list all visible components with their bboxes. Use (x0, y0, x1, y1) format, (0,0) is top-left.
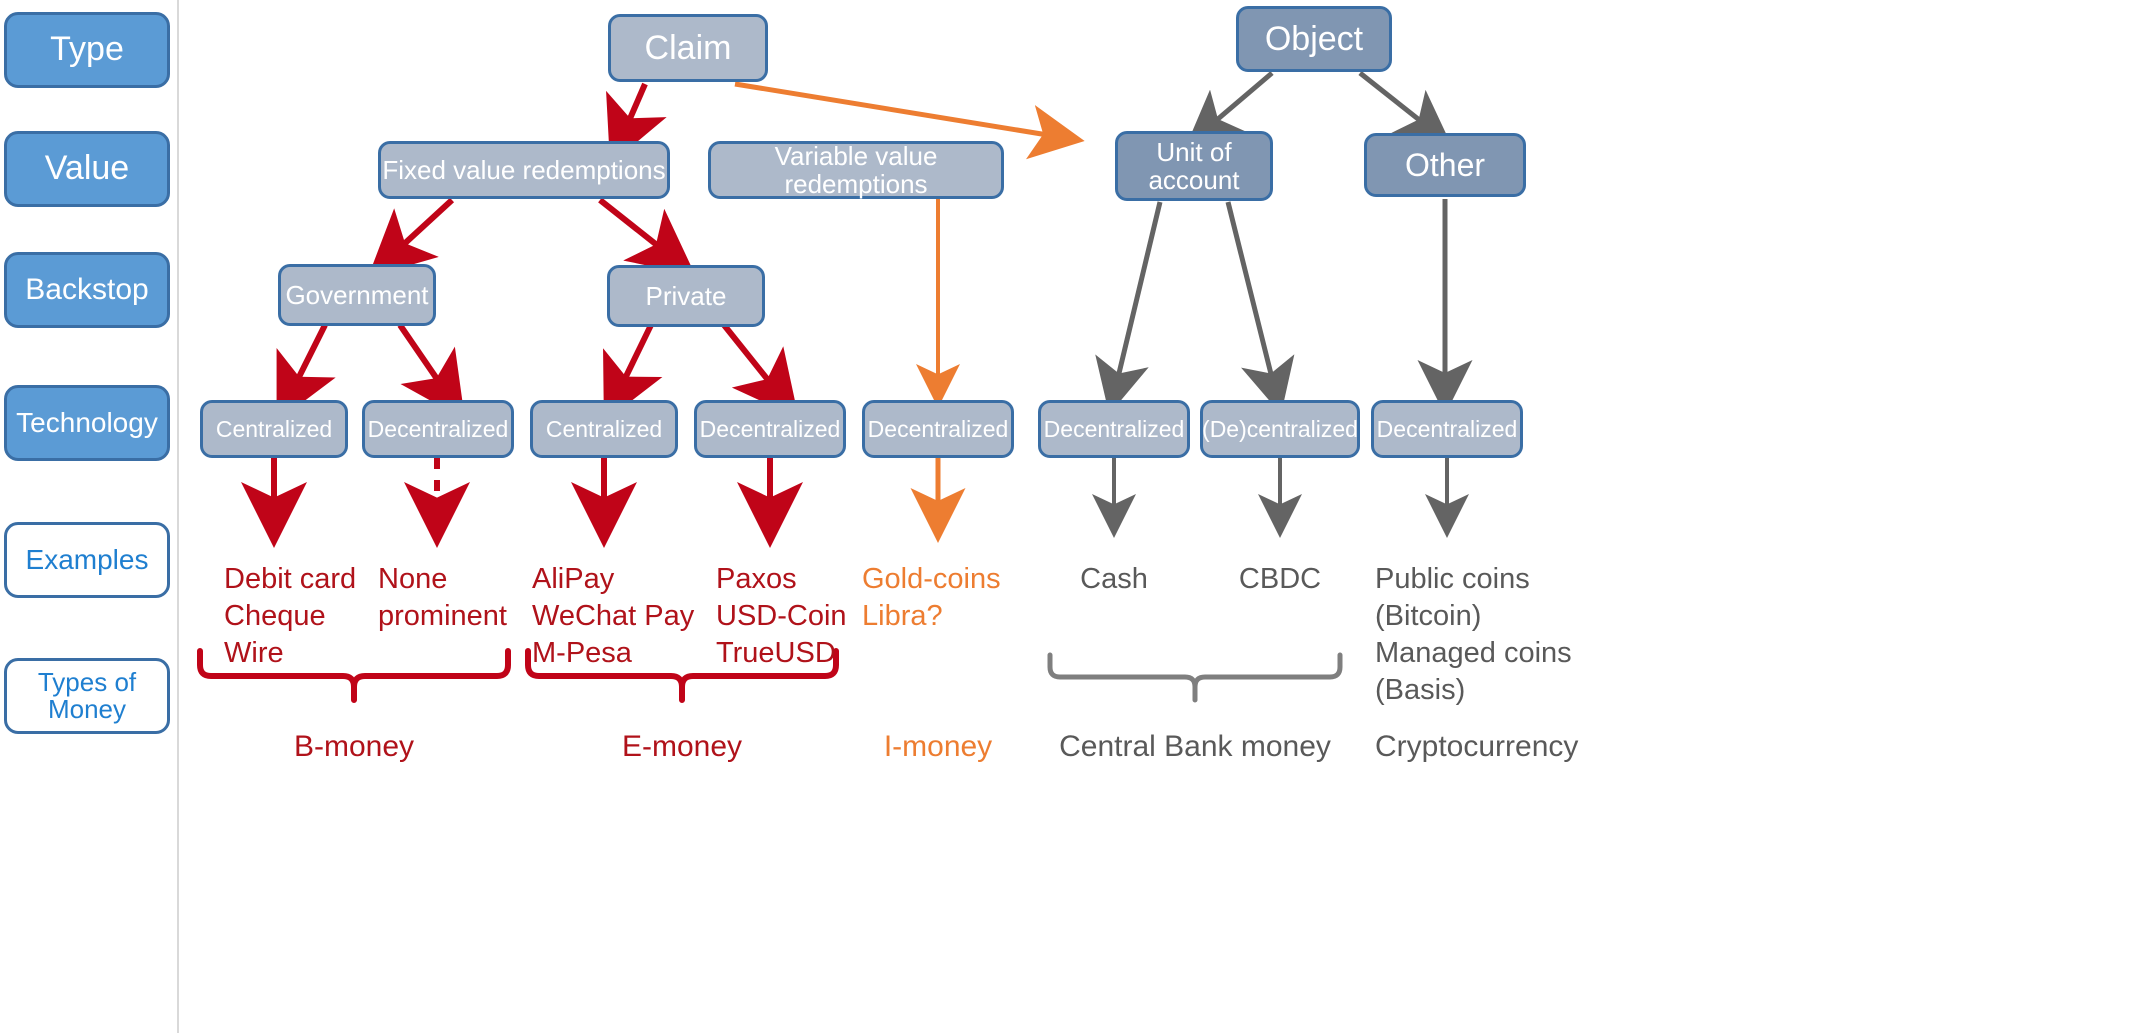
node-label: Unit of account (1148, 138, 1239, 194)
example-text: CBDC (1239, 563, 1321, 595)
money-type-label: B-money (294, 730, 414, 763)
node-government[interactable]: Government (278, 264, 436, 326)
rail-item-types-of-money[interactable]: Types of Money (4, 658, 170, 734)
money-type-bmoney: B-money (254, 690, 454, 767)
example-cbdc: CBDC (1210, 524, 1350, 598)
node-label: (De)centralized (1202, 417, 1358, 442)
rail-label: Backstop (25, 274, 148, 306)
example-text: AliPay WeChat Pay M-Pesa (532, 563, 694, 669)
node-variable-value-redemptions[interactable]: Variable value redemptions (708, 141, 1004, 199)
node-claim[interactable]: Claim (608, 14, 768, 82)
example-imoney: Gold-coins Libra? (862, 524, 1062, 635)
arrow-unit-to-tech6 (1115, 202, 1160, 390)
arrow-claim-to-fixed (622, 84, 645, 137)
money-type-emoney: E-money (582, 690, 782, 767)
node-label: Centralized (546, 417, 662, 442)
node-label: Decentralized (1377, 417, 1518, 442)
node-unit-of-account[interactable]: Unit of account (1115, 131, 1273, 201)
example-text: Public coins (Bitcoin) Managed coins (Ba… (1375, 563, 1572, 706)
node-tech-decentralized-1[interactable]: Decentralized (362, 400, 514, 458)
node-label: Decentralized (700, 417, 841, 442)
rail-item-value[interactable]: Value (4, 131, 170, 207)
node-object[interactable]: Object (1236, 6, 1392, 72)
arrow-unit-to-tech7 (1228, 202, 1275, 390)
money-type-cryptocurrency: Cryptocurrency (1375, 690, 1625, 767)
example-text: None prominent (378, 563, 507, 632)
arrow-object-to-other (1360, 73, 1432, 130)
rail-label: Types of Money (38, 669, 136, 724)
node-tech-centralized-2[interactable]: Centralized (530, 400, 678, 458)
example-text: Cash (1080, 563, 1148, 595)
node-label: Decentralized (368, 417, 509, 442)
arrow-claim-to-variable (735, 84, 1060, 137)
node-other[interactable]: Other (1364, 133, 1526, 197)
node-label: Decentralized (868, 417, 1009, 442)
node-fixed-value-redemptions[interactable]: Fixed value redemptions (378, 141, 670, 199)
node-label: Government (285, 281, 428, 309)
arrow-private-to-tech3 (617, 325, 651, 395)
rail-label: Technology (16, 408, 158, 437)
node-tech-decentralized-5[interactable]: Decentralized (1371, 400, 1523, 458)
arrow-private-to-tech4 (724, 325, 780, 395)
arrow-government-to-tech2 (400, 325, 448, 395)
example-cryptocurrency: Public coins (Bitcoin) Managed coins (Ba… (1375, 524, 1605, 710)
arrow-object-to-unit (1205, 73, 1272, 130)
connector-layer (0, 0, 2145, 1033)
node-private[interactable]: Private (607, 265, 765, 327)
arrow-fixed-to-private (600, 200, 672, 257)
node-label: Object (1265, 21, 1363, 58)
rail-label: Examples (26, 545, 149, 574)
example-text: Gold-coins Libra? (862, 563, 1001, 632)
rail-item-examples[interactable]: Examples (4, 522, 170, 598)
node-tech-de-centralized[interactable]: (De)centralized (1200, 400, 1360, 458)
rail-item-type[interactable]: Type (4, 12, 170, 88)
node-label: Decentralized (1044, 417, 1185, 442)
arrow-fixed-to-government (390, 200, 452, 257)
money-type-label: E-money (622, 730, 742, 763)
example-text: Debit card Cheque Wire (224, 563, 356, 669)
node-label: Other (1405, 148, 1485, 183)
arrow-government-to-tech1 (290, 325, 325, 395)
example-text: Paxos USD-Coin TrueUSD (716, 563, 847, 669)
example-emoney-centralized: AliPay WeChat Pay M-Pesa (532, 524, 742, 672)
money-type-label: Cryptocurrency (1375, 730, 1578, 763)
node-label: Claim (645, 30, 732, 67)
node-label: Centralized (216, 417, 332, 442)
rail-item-technology[interactable]: Technology (4, 385, 170, 461)
money-type-label: I-money (884, 730, 992, 763)
money-type-label: Central Bank money (1059, 730, 1331, 763)
node-tech-decentralized-4[interactable]: Decentralized (1038, 400, 1190, 458)
money-tree-diagram: Type Value Backstop Technology Examples … (0, 0, 2145, 1033)
example-bmoney-centralized: Debit card Cheque Wire (224, 524, 404, 672)
node-label: Fixed value redemptions (382, 156, 665, 184)
node-label: Private (646, 282, 727, 310)
node-label: Variable value redemptions (711, 142, 1001, 198)
money-type-imoney: I-money (838, 690, 1038, 767)
money-type-central-bank-money: Central Bank money (1055, 690, 1335, 767)
rail-label: Value (45, 151, 129, 187)
node-tech-decentralized-3[interactable]: Decentralized (862, 400, 1014, 458)
example-cash: Cash (1044, 524, 1184, 598)
node-tech-centralized-1[interactable]: Centralized (200, 400, 348, 458)
node-tech-decentralized-2[interactable]: Decentralized (694, 400, 846, 458)
rail-label: Type (50, 32, 124, 68)
rail-item-backstop[interactable]: Backstop (4, 252, 170, 328)
